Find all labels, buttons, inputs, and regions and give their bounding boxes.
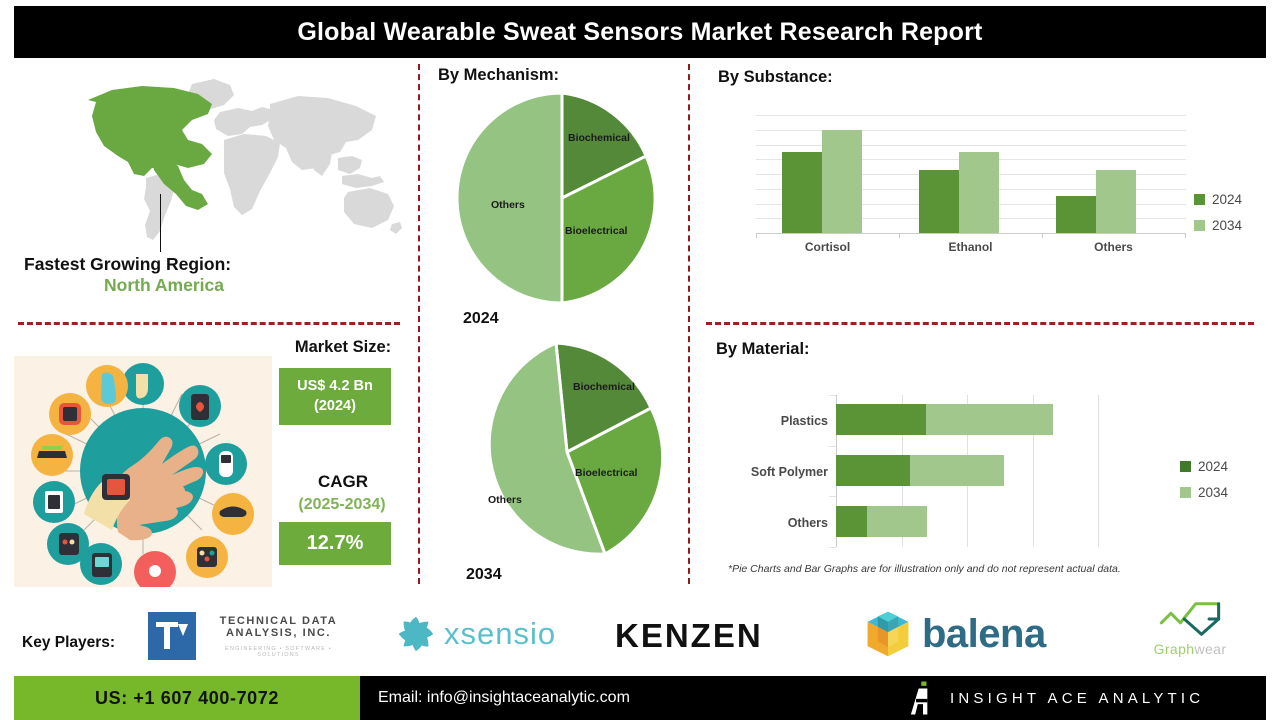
insight-ace-logo-icon	[910, 681, 936, 715]
graphwear-mark-icon	[1140, 598, 1240, 640]
cagr-value-box: 12.7%	[279, 522, 391, 565]
axis-tick	[1185, 233, 1186, 238]
legend-item-2034: 2034	[1180, 485, 1228, 500]
material-plot-area	[836, 395, 1098, 547]
tda-mark	[148, 612, 196, 660]
pie-2024-label-biochemical: Biochemical	[568, 132, 630, 144]
cagr-title: CAGR	[278, 472, 408, 492]
world-map	[42, 66, 402, 256]
bar-material-others-2034	[867, 506, 927, 537]
pie-2024-svg	[453, 89, 671, 307]
y-tick-label-plastics: Plastics	[706, 414, 828, 428]
logo-technical-data-analysis: TECHNICAL DATA ANALYSIS, INC. ENGINEERIN…	[148, 608, 353, 664]
section-title-material: By Material:	[716, 340, 810, 359]
section-title-substance: By Substance:	[718, 68, 833, 87]
tda-line1: TECHNICAL DATA	[204, 615, 353, 627]
balena-wordmark: balena	[922, 612, 1046, 657]
y-tick-label-soft-polymer: Soft Polymer	[706, 465, 828, 479]
pie-2024-year: 2024	[463, 310, 499, 328]
logo-balena: balena	[862, 608, 1046, 660]
bar-soft-polymer-2024	[836, 455, 910, 486]
bar-plastics-2024	[836, 404, 926, 435]
graphwear-wordmark-graph: Graph	[1154, 641, 1195, 657]
wearables-illustration	[14, 356, 272, 587]
header-bar: Global Wearable Sweat Sensors Market Res…	[14, 6, 1266, 58]
logo-kenzen: KENZEN	[615, 617, 763, 655]
pie-2034-label-biochemical: Biochemical	[573, 381, 635, 393]
region-panel: Fastest Growing Region: North America	[18, 66, 408, 316]
legend-swatch-2034	[1194, 220, 1205, 231]
cagr-period: (2025-2034)	[272, 496, 412, 514]
chart-footnote: *Pie Charts and Bar Graphs are for illus…	[728, 563, 1188, 575]
cagr-value: 12.7%	[307, 532, 364, 555]
legend-item-2024: 2024	[1194, 192, 1242, 207]
tda-mark-svg	[148, 612, 196, 660]
pie-2024-label-others: Others	[491, 199, 525, 211]
pie-2024-label-bioelectrical: Bioelectrical	[565, 225, 627, 237]
pie-chart-mechanism-2034: Biochemical Bioelectrical Others	[453, 338, 681, 566]
legend-swatch-2024	[1194, 194, 1205, 205]
legend-item-2024: 2024	[1180, 459, 1228, 474]
legend-material: 2024 2034	[1180, 459, 1228, 511]
graphwear-wordmark-wear: wear	[1194, 641, 1226, 657]
axis-tick	[829, 446, 836, 447]
footer-phone-bar: US: +1 607 400-7072	[14, 676, 360, 720]
bar-cortisol-2034	[822, 130, 862, 233]
fastest-growing-region-value: North America	[24, 275, 304, 296]
bar-row-others	[836, 506, 927, 537]
pie-2034-svg	[453, 338, 681, 566]
divider-horizontal-right	[706, 322, 1254, 325]
infographic-page: Global Wearable Sweat Sensors Market Res…	[0, 0, 1280, 720]
axis-tick	[829, 395, 836, 396]
divider-vertical-right	[688, 64, 690, 584]
logo-graphwear: Graphwear	[1140, 598, 1240, 658]
legend-label-2034: 2034	[1198, 485, 1228, 500]
world-map-svg	[42, 66, 402, 256]
axis-tick	[829, 496, 836, 497]
xsensio-mark-icon	[394, 612, 438, 656]
pie-2034-year: 2034	[466, 566, 502, 584]
bar-soft-polymer-2034	[910, 455, 1004, 486]
divider-horizontal-left	[18, 322, 400, 325]
legend-label-2034: 2034	[1212, 218, 1242, 233]
tda-line3: ENGINEERING • SOFTWARE • SOLUTIONS	[204, 646, 353, 658]
legend-swatch-2024	[1180, 461, 1191, 472]
x-tick-label-ethanol: Ethanol	[899, 240, 1042, 254]
wearables-illustration-svg	[14, 356, 272, 587]
gridline	[1098, 395, 1099, 547]
y-tick-label-others: Others	[706, 516, 828, 530]
logo-xsensio: xsensio	[394, 612, 556, 656]
pie-chart-mechanism-2024: Biochemical Bioelectrical Others	[453, 89, 671, 307]
axis-tick	[756, 233, 757, 238]
x-tick-label-others: Others	[1042, 240, 1185, 254]
balena-mark-icon	[862, 608, 914, 660]
legend-label-2024: 2024	[1212, 192, 1242, 207]
footer-brand: INSIGHT ACE ANALYTIC	[910, 681, 1204, 715]
bar-row-soft-polymer	[836, 455, 1004, 486]
fastest-growing-region-label: Fastest Growing Region:	[24, 254, 364, 275]
footer-brand-bar: Email: info@insightaceanalytic.com INSIG…	[360, 676, 1266, 720]
divider-vertical-left	[418, 64, 420, 584]
tda-line2: ANALYSIS, INC.	[204, 627, 353, 639]
market-size-title: Market Size:	[278, 338, 408, 357]
legend-label-2024: 2024	[1198, 459, 1228, 474]
legend-swatch-2034	[1180, 487, 1191, 498]
market-size-value: US$ 4.2 Bn	[297, 377, 373, 397]
section-title-mechanism: By Mechanism:	[438, 66, 559, 85]
bar-row-plastics	[836, 404, 1053, 435]
footer-brand-text: INSIGHT ACE ANALYTIC	[950, 690, 1204, 707]
bar-material-others-2024	[836, 506, 867, 537]
axis-tick	[1042, 233, 1043, 238]
bar-ethanol-2024	[919, 170, 959, 233]
map-pointer-line	[160, 194, 161, 252]
market-size-year: (2024)	[314, 397, 356, 417]
gridline	[756, 115, 1186, 116]
axis-tick	[829, 547, 836, 548]
bar-cortisol-2024	[782, 152, 822, 233]
bar-others-2024	[1056, 196, 1096, 233]
bar-others-2034	[1096, 170, 1136, 233]
legend-item-2034: 2034	[1194, 218, 1242, 233]
bar-ethanol-2034	[959, 152, 999, 233]
x-axis-line	[756, 233, 1186, 234]
footer-email: Email: info@insightaceanalytic.com	[378, 689, 630, 707]
key-players-label: Key Players:	[22, 634, 115, 652]
bar-plastics-2034	[926, 404, 1053, 435]
gridline	[756, 130, 1186, 131]
substance-plot-area	[756, 115, 1186, 233]
xsensio-wordmark: xsensio	[444, 616, 556, 652]
gridline	[756, 145, 1186, 146]
pie-2034-label-bioelectrical: Bioelectrical	[575, 467, 637, 479]
axis-tick	[899, 233, 900, 238]
x-tick-label-cortisol: Cortisol	[756, 240, 899, 254]
page-title: Global Wearable Sweat Sensors Market Res…	[297, 18, 982, 47]
pie-2034-label-others: Others	[488, 494, 522, 506]
legend-substance: 2024 2034	[1194, 192, 1242, 244]
market-size-value-box: US$ 4.2 Bn (2024)	[279, 368, 391, 425]
kenzen-wordmark: KENZEN	[615, 617, 763, 655]
footer-phone: US: +1 607 400-7072	[95, 688, 279, 709]
